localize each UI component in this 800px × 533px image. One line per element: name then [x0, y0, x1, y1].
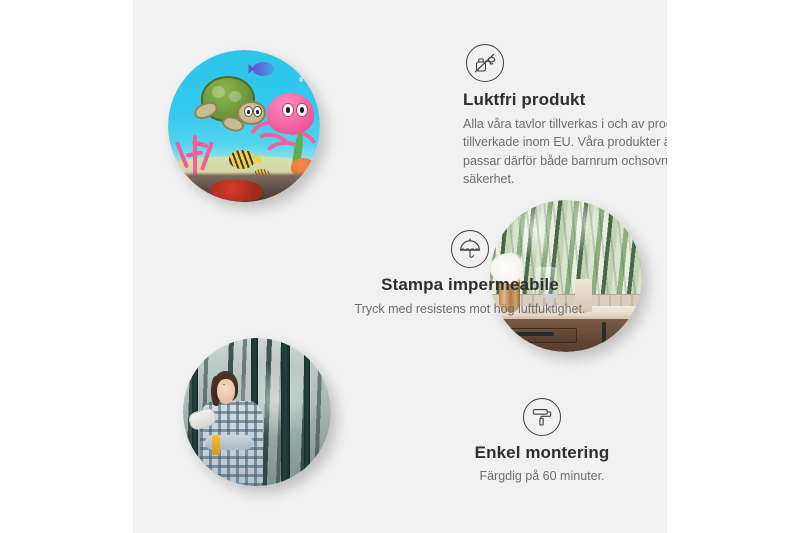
feature-title: Stampa impermeabile	[345, 275, 595, 295]
cabinet-handle	[631, 322, 635, 343]
hand-tool	[212, 435, 220, 455]
feature-title: Enkel montering	[433, 443, 651, 463]
smile	[223, 384, 225, 385]
ocean-illustration	[168, 50, 320, 202]
feature-description: Alla våra tavlor tillverkas i och av pro…	[463, 115, 667, 188]
coral-icon	[174, 126, 220, 178]
face	[217, 379, 235, 404]
product-image-forest[interactable]	[183, 338, 331, 486]
feature-easy-install: Enkel montering Färgdig på 60 minuter.	[433, 398, 651, 485]
bubble-dot	[299, 77, 304, 82]
paint-roller-icon	[523, 398, 561, 436]
octopus-eye	[296, 103, 307, 118]
forest-photo	[183, 338, 331, 486]
no-fragrance-icon	[466, 44, 504, 82]
turtle-icon	[192, 76, 262, 128]
tree-trunk	[304, 338, 310, 486]
product-feature-panel: Luktfri produkt Alla våra tavlor tillver…	[133, 0, 667, 533]
drawer-handle	[514, 332, 554, 336]
turtle-eye	[244, 106, 253, 117]
screenshot-root: Luktfri produkt Alla våra tavlor tillver…	[0, 0, 800, 533]
ocean-foreground-strip	[168, 172, 320, 202]
product-image-ocean[interactable]	[168, 50, 320, 202]
umbrella-icon	[451, 230, 489, 268]
octopus-head	[267, 93, 314, 135]
tree-trunk	[281, 338, 290, 486]
woman-figure	[192, 371, 275, 486]
octopus-icon	[253, 93, 317, 163]
yellow-fish-icon	[229, 150, 255, 168]
octopus-eye	[282, 103, 293, 118]
feature-waterproof: Stampa impermeabile Tryck med resistens …	[345, 230, 595, 318]
feature-description: Färgdig på 60 minuter.	[433, 467, 651, 485]
blue-fish-icon	[253, 62, 274, 76]
cabinet-handle	[602, 322, 606, 346]
feature-odourless: Luktfri produkt Alla våra tavlor tillver…	[463, 44, 667, 188]
feature-title: Luktfri produkt	[463, 90, 667, 110]
feature-description: Tryck med resistens mot hög luftfuktighe…	[345, 300, 595, 318]
